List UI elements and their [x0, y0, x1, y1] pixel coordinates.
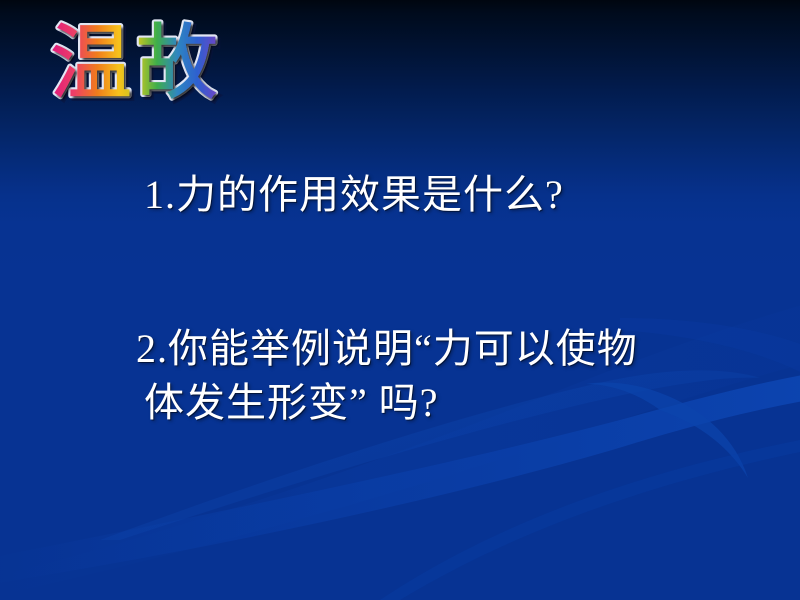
- question-list: 1.力的作用效果是什么? 2.你能举例说明“力可以使物 体发生形变” 吗?: [0, 0, 800, 600]
- question-2-line-1: 2.你能举例说明“力可以使物: [136, 322, 638, 376]
- slide-canvas: 温故 温故 温故 1.力的作用效果是什么? 2.你能举例说明“力可以使物 体发生…: [0, 0, 800, 600]
- question-1: 1.力的作用效果是什么?: [144, 168, 564, 222]
- question-2-line-2: 体发生形变” 吗?: [144, 376, 439, 430]
